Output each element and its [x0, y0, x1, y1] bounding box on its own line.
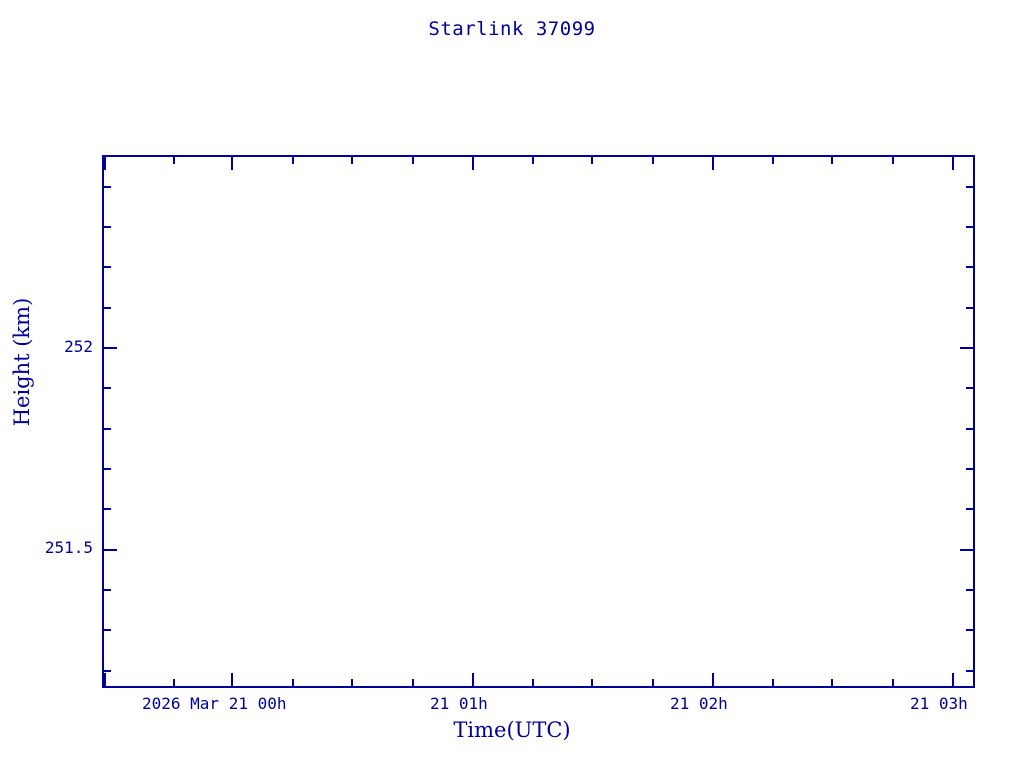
y-tick-minor-right: [966, 428, 973, 430]
y-tick-minor-right: [966, 468, 973, 470]
y-tick-minor: [104, 589, 111, 591]
x-tick-major: [472, 673, 474, 686]
y-tick-minor: [104, 670, 111, 672]
x-tick-minor-top: [532, 157, 534, 164]
x-tick-minor: [772, 679, 774, 686]
plot-interior: [104, 157, 973, 686]
x-tick-major-top: [712, 157, 714, 170]
x-tick-minor: [351, 679, 353, 686]
x-tick-minor-top: [351, 157, 353, 164]
y-tick-minor: [104, 186, 111, 188]
x-tick-minor-top: [412, 157, 414, 164]
x-tick-minor: [652, 679, 654, 686]
y-tick-minor: [104, 226, 111, 228]
x-axis-tick-label: 21 03h: [910, 694, 968, 713]
y-tick-minor-right: [966, 589, 973, 591]
y-tick-minor: [104, 307, 111, 309]
x-tick-minor-top: [892, 157, 894, 164]
y-tick-minor: [104, 468, 111, 470]
y-tick-major: [104, 347, 117, 349]
x-tick-major-top: [104, 157, 106, 170]
x-tick-minor-top: [173, 157, 175, 164]
y-tick-minor-right: [966, 629, 973, 631]
x-tick-major: [104, 673, 106, 686]
plot-area: [102, 155, 975, 688]
y-tick-major-right: [960, 347, 973, 349]
x-tick-major-top: [952, 157, 954, 170]
y-axis-tick-label: 251.5: [0, 538, 93, 557]
x-tick-major: [952, 673, 954, 686]
y-tick-minor-right: [966, 186, 973, 188]
y-tick-minor-right: [966, 670, 973, 672]
x-axis-tick-label: 21 01h: [430, 694, 488, 713]
chart-title: Starlink 37099: [0, 18, 1024, 40]
y-tick-minor-right: [966, 226, 973, 228]
chart-canvas: Starlink 37099: [0, 0, 1024, 768]
x-axis-title: Time(UTC): [0, 718, 1024, 742]
x-tick-minor: [831, 679, 833, 686]
y-tick-minor-right: [966, 387, 973, 389]
data-series-layer: [104, 157, 973, 686]
x-axis-tick-label: 21 02h: [670, 694, 728, 713]
y-tick-minor: [104, 428, 111, 430]
y-tick-minor: [104, 266, 111, 268]
y-axis-title: Height (km): [10, 262, 34, 462]
x-tick-minor-top: [831, 157, 833, 164]
y-tick-minor: [104, 508, 111, 510]
x-tick-minor: [292, 679, 294, 686]
y-tick-minor-right: [966, 307, 973, 309]
x-tick-major-top: [231, 157, 233, 170]
x-axis-tick-label: 2026 Mar 21 00h: [142, 694, 287, 713]
x-tick-minor-top: [591, 157, 593, 164]
y-tick-minor: [104, 629, 111, 631]
x-tick-minor: [412, 679, 414, 686]
x-tick-minor: [591, 679, 593, 686]
x-tick-minor-top: [652, 157, 654, 164]
x-tick-major: [712, 673, 714, 686]
x-tick-minor: [892, 679, 894, 686]
y-tick-major-right: [960, 549, 973, 551]
x-tick-major-top: [472, 157, 474, 170]
x-tick-major: [231, 673, 233, 686]
x-tick-minor: [532, 679, 534, 686]
y-tick-major: [104, 549, 117, 551]
x-tick-minor: [173, 679, 175, 686]
x-tick-minor-top: [772, 157, 774, 164]
y-tick-minor-right: [966, 508, 973, 510]
y-tick-minor-right: [966, 266, 973, 268]
y-tick-minor: [104, 387, 111, 389]
x-tick-minor-top: [292, 157, 294, 164]
